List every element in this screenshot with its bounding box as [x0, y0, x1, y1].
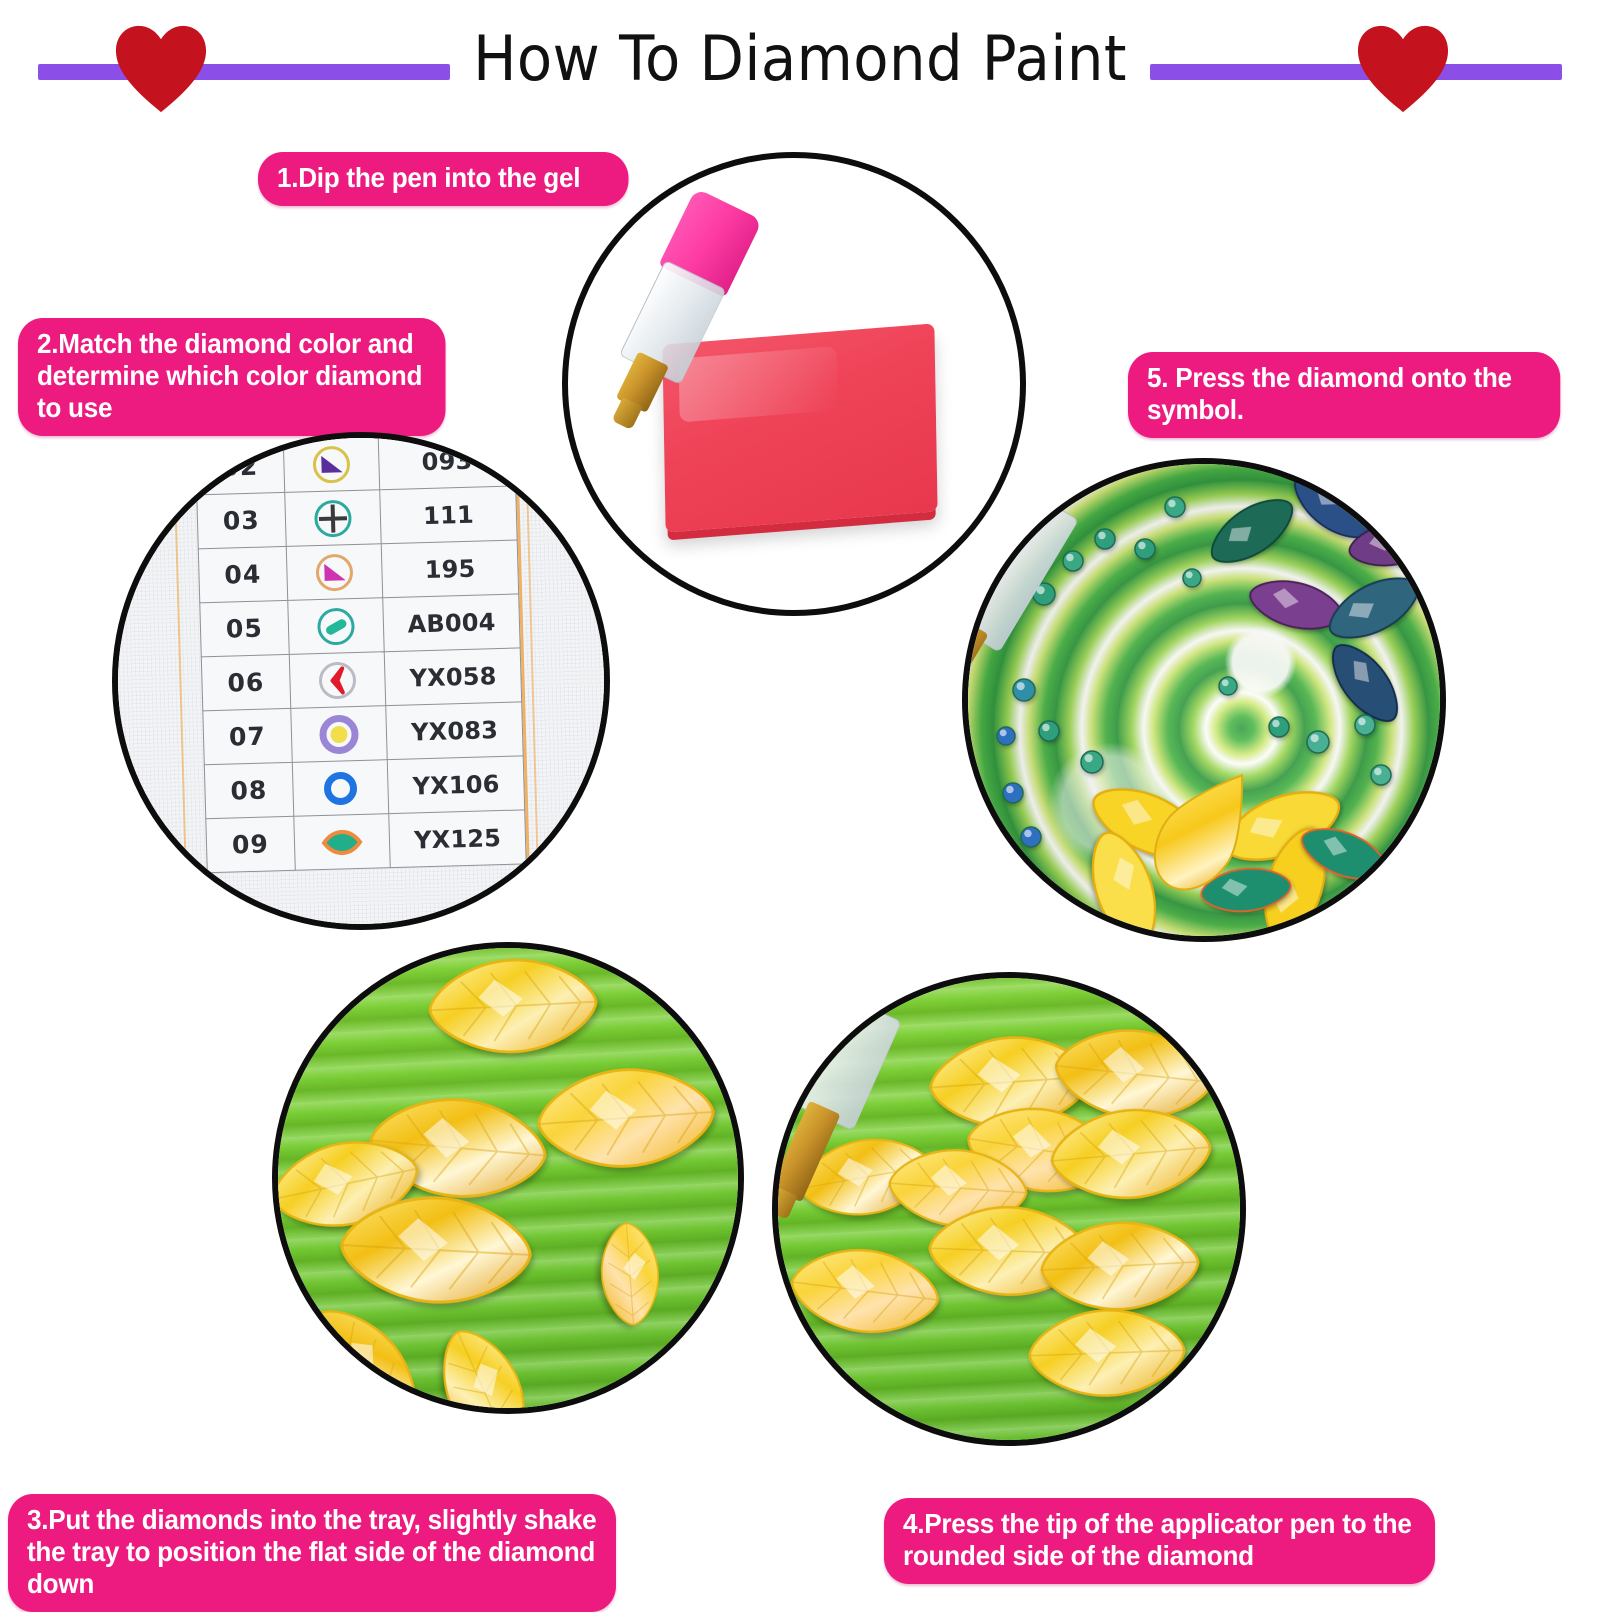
canvas-gem: [1218, 676, 1238, 696]
color-chart-row: 08YX106: [204, 756, 524, 819]
diamond-gem: [1046, 1101, 1215, 1207]
dot-in-ring-icon: [290, 706, 387, 763]
chart-row-number: 09: [206, 816, 295, 872]
color-chart-row: 05AB004: [200, 594, 520, 657]
gel-pad: [662, 323, 937, 532]
chart-row-code: 111: [380, 486, 517, 544]
chart-row-code: 195: [381, 540, 518, 598]
chart-row-code: YX106: [387, 756, 524, 814]
color-chart-row: 03111: [197, 486, 517, 549]
canvas-gem: [1012, 678, 1036, 702]
chart-row-number: 06: [201, 654, 290, 710]
leaf-icon: [293, 814, 390, 871]
chart-row-number: 05: [200, 600, 289, 656]
color-chart-row: 09YX125: [206, 810, 526, 873]
canvas-gem: [1354, 714, 1376, 736]
diamond-gem: [426, 954, 601, 1059]
chart-row-number: 03: [197, 492, 286, 548]
color-chart-table: 0102802093031110419505AB00406YX05807YX08…: [193, 432, 526, 873]
infographic-canvas: How To Diamond Paint 1.Dip the pen into …: [0, 0, 1600, 1600]
canvas-gem: [1164, 496, 1186, 518]
step-3-photo: [272, 942, 744, 1414]
triangle-icon: [283, 436, 380, 493]
canvas-gem: [1080, 750, 1104, 774]
color-chart-row: 02093: [195, 432, 515, 495]
diamond-gem: [335, 1191, 536, 1309]
diamond-gem: [533, 1216, 728, 1333]
pressing-diamond-onto-canvas-image: [968, 464, 1440, 936]
triangle-icon: [286, 544, 383, 601]
chart-row-number: 07: [203, 708, 292, 764]
canvas-gem: [1038, 720, 1060, 742]
pen-picking-up-diamond-image: [778, 978, 1240, 1440]
canvas-gem: [1002, 782, 1024, 804]
color-symbol-chart-image: 0102802093031110419505AB00406YX05807YX08…: [118, 438, 604, 924]
page-title: How To Diamond Paint: [56, 22, 1544, 95]
plus-icon: [284, 490, 381, 547]
diamond-gem: [1038, 1216, 1203, 1316]
canvas-gem: [1370, 764, 1392, 786]
canvas-gem: [1020, 826, 1042, 848]
canvas-gem: [1268, 716, 1290, 738]
step-3-label: 3.Put the diamonds into the tray, slight…: [8, 1494, 616, 1612]
pen-dipping-into-gel-pad-image: [568, 158, 1020, 610]
diamond-gem: [785, 1237, 945, 1345]
diamond-gem: [533, 1062, 720, 1174]
canvas-gem: [996, 726, 1016, 746]
chart-row-number: 04: [198, 546, 287, 602]
color-chart-row: 06YX058: [201, 648, 521, 711]
diamond-gem: [1026, 1305, 1187, 1400]
canvas-gem: [1062, 550, 1084, 572]
chart-row-code: AB004: [383, 594, 520, 652]
step-1-photo: [562, 152, 1026, 616]
canvas-sheet: 0102802093031110419505AB00406YX05807YX08…: [112, 432, 610, 930]
canvas-gem: [1182, 568, 1202, 588]
step-4-photo: [772, 972, 1246, 1446]
step-5-photo: [962, 458, 1446, 942]
chart-row-number: 02: [195, 438, 284, 494]
color-chart-row: 07YX083: [203, 702, 523, 765]
chart-row-code: 093: [378, 432, 515, 490]
step-2-label: 2.Match the diamond color and determine …: [18, 318, 446, 436]
chevron-left-icon: [289, 652, 386, 709]
step-2-photo: 0102802093031110419505AB00406YX05807YX08…: [112, 432, 610, 930]
canvas-gem: [1134, 538, 1156, 560]
step-4-label: 4.Press the tip of the applicator pen to…: [884, 1498, 1435, 1584]
chart-row-number: 08: [204, 762, 293, 818]
capsule-icon: [287, 598, 384, 655]
chart-row-code: YX058: [384, 648, 521, 706]
canvas-gem: [1306, 730, 1330, 754]
open-ring-icon: [292, 760, 389, 817]
chart-row-code: YX083: [386, 702, 523, 760]
chart-row-code: YX125: [389, 810, 526, 868]
step-5-label: 5. Press the diamond onto the symbol.: [1128, 352, 1560, 438]
yellow-diamonds-in-green-tray-image: [278, 948, 738, 1408]
color-chart-row: 04195: [198, 540, 518, 603]
canvas-gem: [1094, 528, 1116, 550]
